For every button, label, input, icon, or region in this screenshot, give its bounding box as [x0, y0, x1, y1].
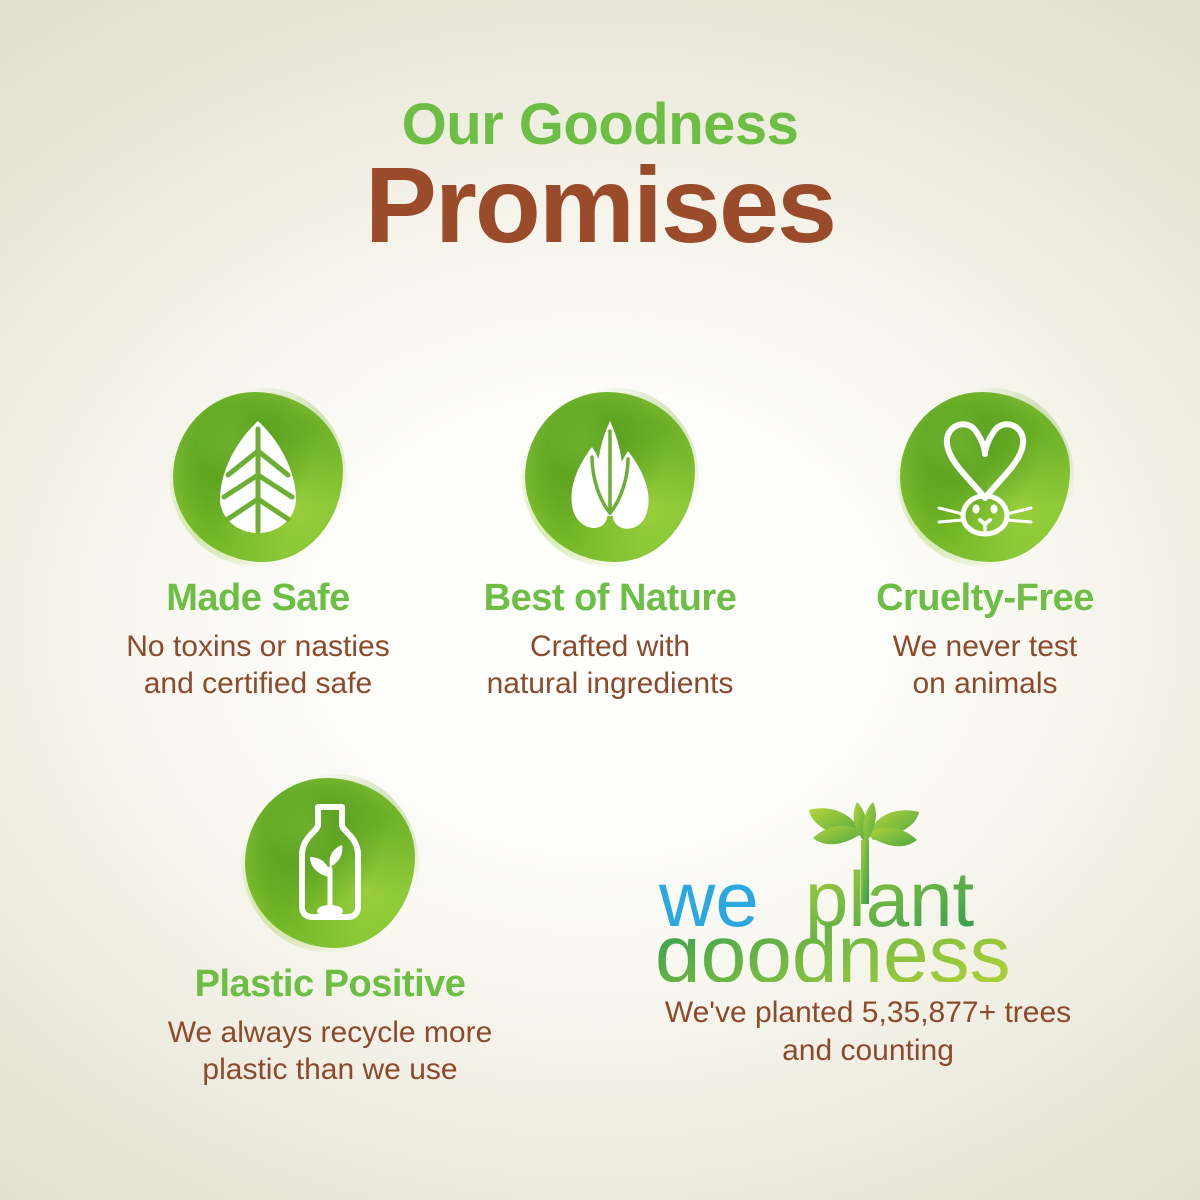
promise-icon-best-of-nature — [525, 392, 695, 562]
we-plant-goodness-logo-block: we plant goodness We've planted 5,35,877… — [618, 800, 1118, 1070]
promise-desc-line-1: We never test — [775, 628, 1195, 665]
promise-desc-line-2: plastic than we use — [120, 1051, 540, 1088]
promise-icon-cruelty-free — [900, 392, 1070, 562]
bottle-with-sprout-icon — [245, 778, 415, 948]
leaf-icon — [173, 392, 343, 562]
promise-desc-line-2: natural ingredients — [400, 665, 820, 702]
promise-desc-line-1: We always recycle more — [120, 1014, 540, 1051]
promise-desc-line-2: on animals — [775, 665, 1195, 702]
promise-description: Crafted with natural ingredients — [400, 628, 820, 702]
promise-card-cruelty-free: Cruelty-Free We never test on animals — [775, 392, 1195, 702]
promise-card-plastic-positive: Plastic Positive We always recycle more … — [120, 778, 540, 1088]
promise-card-best-of-nature: Best of Nature Crafted with natural ingr… — [400, 392, 820, 702]
caption-line-2: and counting — [618, 1032, 1118, 1070]
page-title: Our Goodness Promises — [0, 96, 1200, 260]
promise-icon-plastic-positive — [245, 778, 415, 948]
three-leaves-sprout-icon — [525, 392, 695, 562]
caption-line-1: We've planted 5,35,877+ trees — [618, 994, 1118, 1032]
promise-icon-made-safe — [173, 392, 343, 562]
promise-description: We never test on animals — [775, 628, 1195, 702]
logo-word-goodness: goodness — [655, 909, 1011, 982]
promise-desc-line-1: Crafted with — [400, 628, 820, 665]
bunny-heart-ears-icon — [900, 392, 1070, 562]
promise-heading: Cruelty-Free — [775, 578, 1195, 620]
promise-description: We always recycle more plastic than we u… — [120, 1014, 540, 1088]
title-line-promises: Promises — [0, 150, 1200, 260]
promise-heading: Plastic Positive — [120, 964, 540, 1006]
promises-infographic: Our Goodness Promises Made Safe No to — [0, 0, 1200, 1200]
trees-planted-caption: We've planted 5,35,877+ trees and counti… — [618, 994, 1118, 1070]
promise-heading: Best of Nature — [400, 578, 820, 620]
we-plant-goodness-logo: we plant goodness — [653, 800, 1083, 982]
